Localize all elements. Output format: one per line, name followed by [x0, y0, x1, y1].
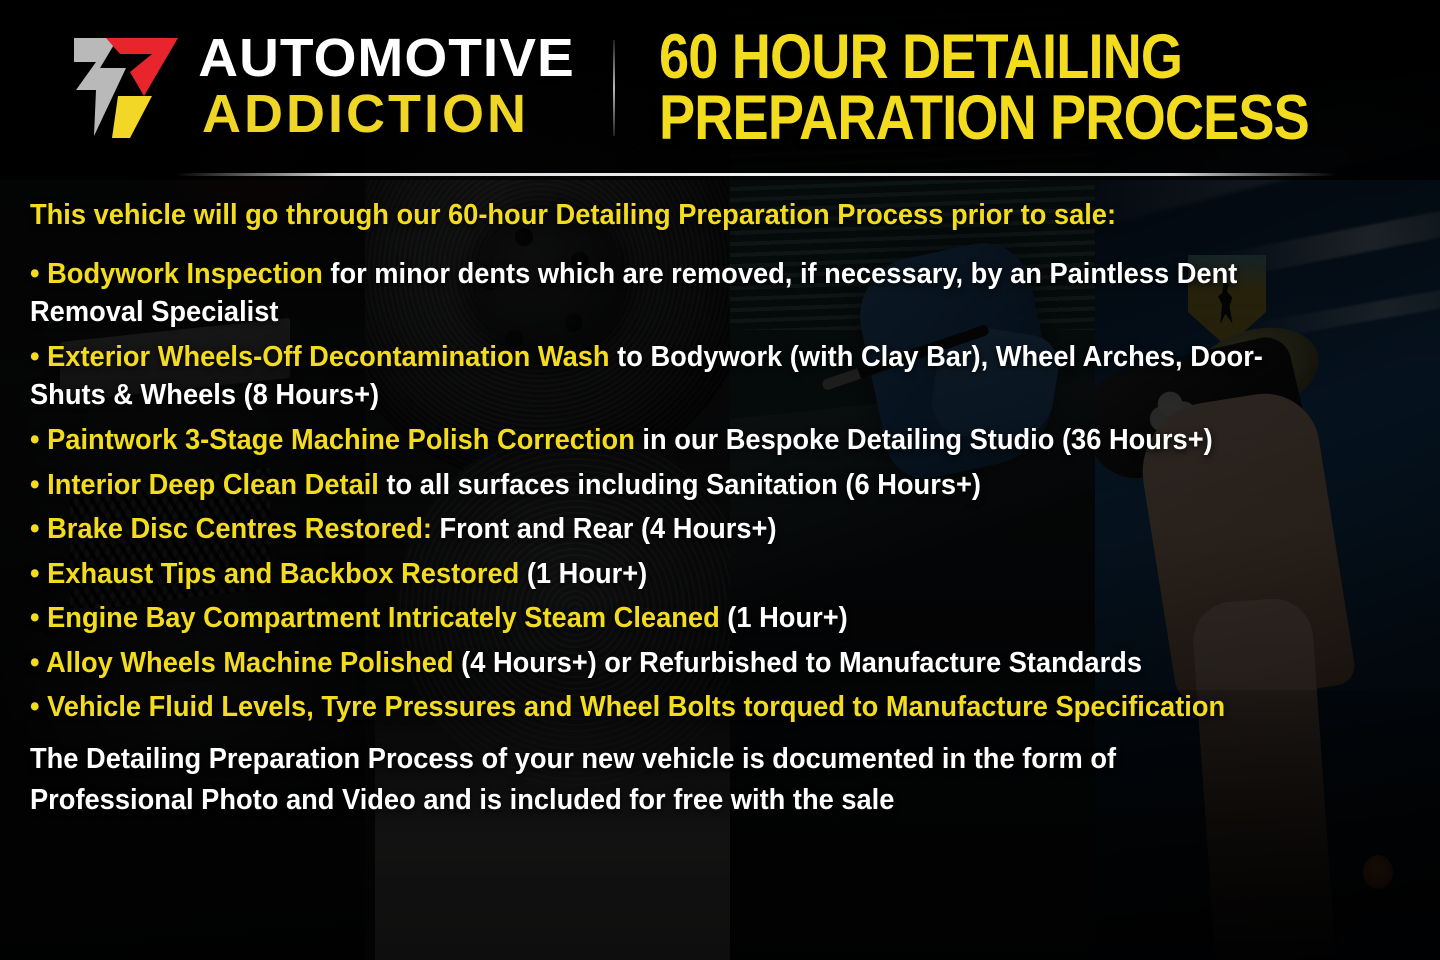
page-title-line1: 60 HOUR DETAILING [659, 28, 1309, 87]
bullet-highlight-text: Engine Bay Compartment Intricately Steam… [40, 602, 720, 634]
bullet-marker-icon: • [30, 558, 40, 590]
process-bullet-item: • Interior Deep Clean Detail to all surf… [30, 466, 1327, 505]
bullet-marker-icon: • [30, 647, 40, 679]
outro-paragraph: The Detailing Preparation Process of you… [30, 739, 1205, 821]
bullet-marker-icon: • [30, 424, 40, 456]
brand-lockup: AUTOMOTIVE ADDICTION [66, 32, 571, 144]
body-copy: This vehicle will go through our 60-hour… [30, 198, 1410, 821]
brand-name-line1: AUTOMOTIVE [198, 33, 574, 85]
bullet-body-text: (1 Hour+) [720, 602, 848, 634]
bullet-marker-icon: • [30, 341, 40, 373]
brand-name-line2: ADDICTION [202, 87, 571, 142]
bullet-highlight-text: Bodywork Inspection [40, 258, 323, 290]
process-bullet-item: • Engine Bay Compartment Intricately Ste… [30, 599, 1327, 638]
poster-header: AUTOMOTIVE ADDICTION 60 HOUR DETAILING P… [0, 0, 1440, 175]
intro-line: This vehicle will go through our 60-hour… [30, 198, 1327, 233]
bullet-body-text: in our Bespoke Detailing Studio (36 Hour… [635, 424, 1213, 456]
process-bullet-item: • Brake Disc Centres Restored: Front and… [30, 510, 1327, 549]
automotive-addiction-triangle-logo-icon [66, 32, 184, 144]
bullet-highlight-text: Exhaust Tips and Backbox Restored [40, 558, 520, 590]
bullet-highlight-text: Paintwork 3-Stage Machine Polish Correct… [40, 424, 635, 456]
bullet-marker-icon: • [30, 602, 40, 634]
page-title: 60 HOUR DETAILING PREPARATION PROCESS [659, 28, 1415, 147]
bullet-body-text: to all surfaces including Sanitation (6 … [379, 469, 981, 501]
bullet-marker-icon: • [30, 469, 40, 501]
process-bullet-list: • Bodywork Inspection for minor dents wh… [30, 255, 1410, 727]
process-bullet-item: • Paintwork 3-Stage Machine Polish Corre… [30, 421, 1327, 460]
header-vertical-divider [613, 40, 615, 136]
bullet-highlight-text: Exterior Wheels-Off Decontamination Wash [40, 341, 610, 373]
bullet-marker-icon: • [30, 691, 40, 723]
detailing-process-poster: AUTOMOTIVE ADDICTION 60 HOUR DETAILING P… [0, 0, 1440, 960]
bullet-highlight-text: Interior Deep Clean Detail [40, 469, 379, 501]
bullet-highlight-text: Vehicle Fluid Levels, Tyre Pressures and… [40, 691, 1226, 723]
bullet-body-text: Front and Rear (4 Hours+) [432, 513, 777, 545]
bullet-highlight-text: Alloy Wheels Machine Polished [40, 647, 454, 679]
page-title-line2: PREPARATION PROCESS [659, 89, 1309, 148]
process-bullet-item: • Vehicle Fluid Levels, Tyre Pressures a… [30, 688, 1327, 727]
process-bullet-item: • Bodywork Inspection for minor dents wh… [30, 255, 1327, 332]
process-bullet-item: • Alloy Wheels Machine Polished (4 Hours… [30, 644, 1327, 683]
bullet-marker-icon: • [30, 258, 40, 290]
bullet-marker-icon: • [30, 513, 40, 545]
bullet-body-text: (4 Hours+) or Refurbished to Manufacture… [454, 647, 1142, 679]
bullet-body-text: (1 Hour+) [519, 558, 647, 590]
process-bullet-item: • Exterior Wheels-Off Decontamination Wa… [30, 338, 1327, 415]
header-horizontal-rule [176, 173, 1336, 176]
process-bullet-item: • Exhaust Tips and Backbox Restored (1 H… [30, 555, 1327, 594]
bullet-highlight-text: Brake Disc Centres Restored: [40, 513, 432, 545]
